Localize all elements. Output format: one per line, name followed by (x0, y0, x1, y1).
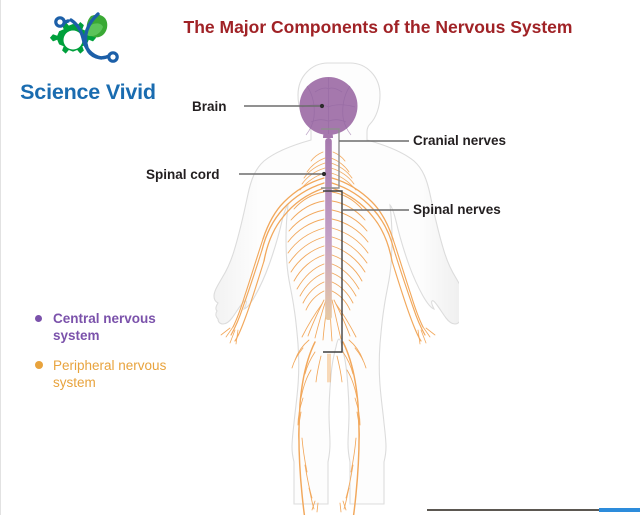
scrollbar-thumb[interactable] (599, 508, 640, 512)
gear-leaf-circuit-logo-icon (43, 6, 135, 78)
brand-logo[interactable]: Science Vivid (7, 6, 169, 106)
bullet-dot-icon (35, 315, 42, 322)
legend-item-central-nervous-system[interactable]: Central nervous system (31, 310, 206, 344)
horizontal-scrollbar[interactable] (427, 508, 640, 512)
callout-label-brain: Brain (192, 99, 227, 114)
brand-wordmark: Science Vivid (7, 80, 169, 105)
legend-item-label: Central nervous system (53, 311, 156, 343)
legend: Central nervous system Peripheral nervou… (31, 310, 206, 404)
callout-label-spinal-cord: Spinal cord (146, 167, 220, 182)
slide-canvas: Science Vivid The Major Components of th… (0, 0, 640, 515)
page-title: The Major Components of the Nervous Syst… (169, 14, 587, 40)
bullet-dot-icon (35, 361, 43, 369)
legend-item-label: Peripheral nervous system (53, 358, 166, 390)
human-nervous-system-diagram (197, 60, 459, 515)
legend-item-peripheral-nervous-system[interactable]: Peripheral nervous system (31, 357, 206, 391)
callout-label-spinal-nerves: Spinal nerves (413, 202, 501, 217)
callout-label-cranial-nerves: Cranial nerves (413, 133, 506, 148)
